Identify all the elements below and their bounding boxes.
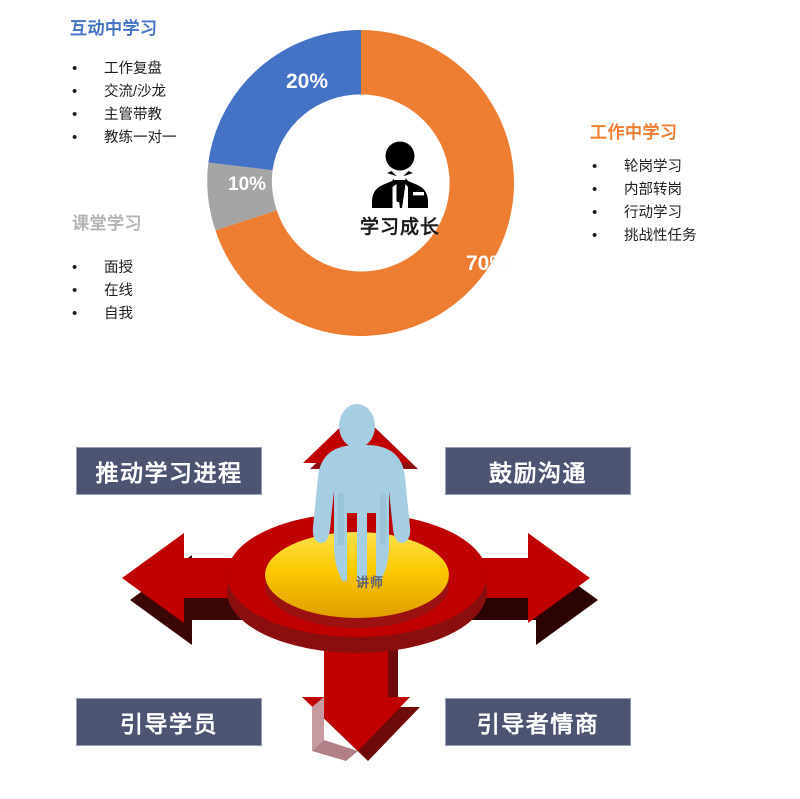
label-box-facilitator-eq[interactable]: 引导者情商 [445, 698, 631, 746]
list-interactive-learning: 工作复盘 交流/沙龙 主管带教 教练一对一 [72, 58, 177, 150]
list-item: 轮岗学习 [592, 156, 697, 179]
list-item: 内部转岗 [592, 179, 697, 202]
slide-canvas: 20% 10% 70% 学习成长 互动中学习 工作复盘 交流/沙龙 主管带教 教… [0, 0, 800, 799]
list-work-learning: 轮岗学习 内部转岗 行动学习 挑战性任务 [592, 156, 697, 248]
list-item: 面授 [72, 257, 133, 280]
list-item: 交流/沙龙 [72, 81, 177, 104]
businessman-icon [358, 140, 442, 210]
donut-value-interactive: 20% [286, 70, 328, 94]
label-box-guide-learners[interactable]: 引导学员 [76, 698, 262, 746]
donut-value-classroom: 10% [228, 174, 266, 196]
list-item: 行动学习 [592, 202, 697, 225]
label-box-push-learning-process[interactable]: 推动学习进程 [76, 447, 262, 495]
heading-interactive-learning: 互动中学习 [70, 14, 158, 39]
list-item: 工作复盘 [72, 58, 177, 81]
list-item: 主管带教 [72, 104, 177, 127]
list-item: 教练一对一 [72, 127, 177, 150]
hub-label: 讲师 [330, 572, 410, 591]
label-box-encourage-communication[interactable]: 鼓励沟通 [445, 447, 631, 495]
list-classroom-learning: 面授 在线 自我 [72, 257, 133, 326]
list-item: 挑战性任务 [592, 225, 697, 248]
heading-work-learning: 工作中学习 [590, 118, 678, 143]
list-item: 在线 [72, 280, 133, 303]
donut-value-work: 70% [466, 252, 508, 276]
donut-center-label: 学习成长 [330, 212, 470, 239]
heading-classroom-learning: 课堂学习 [72, 209, 142, 234]
list-item: 自我 [72, 303, 133, 326]
